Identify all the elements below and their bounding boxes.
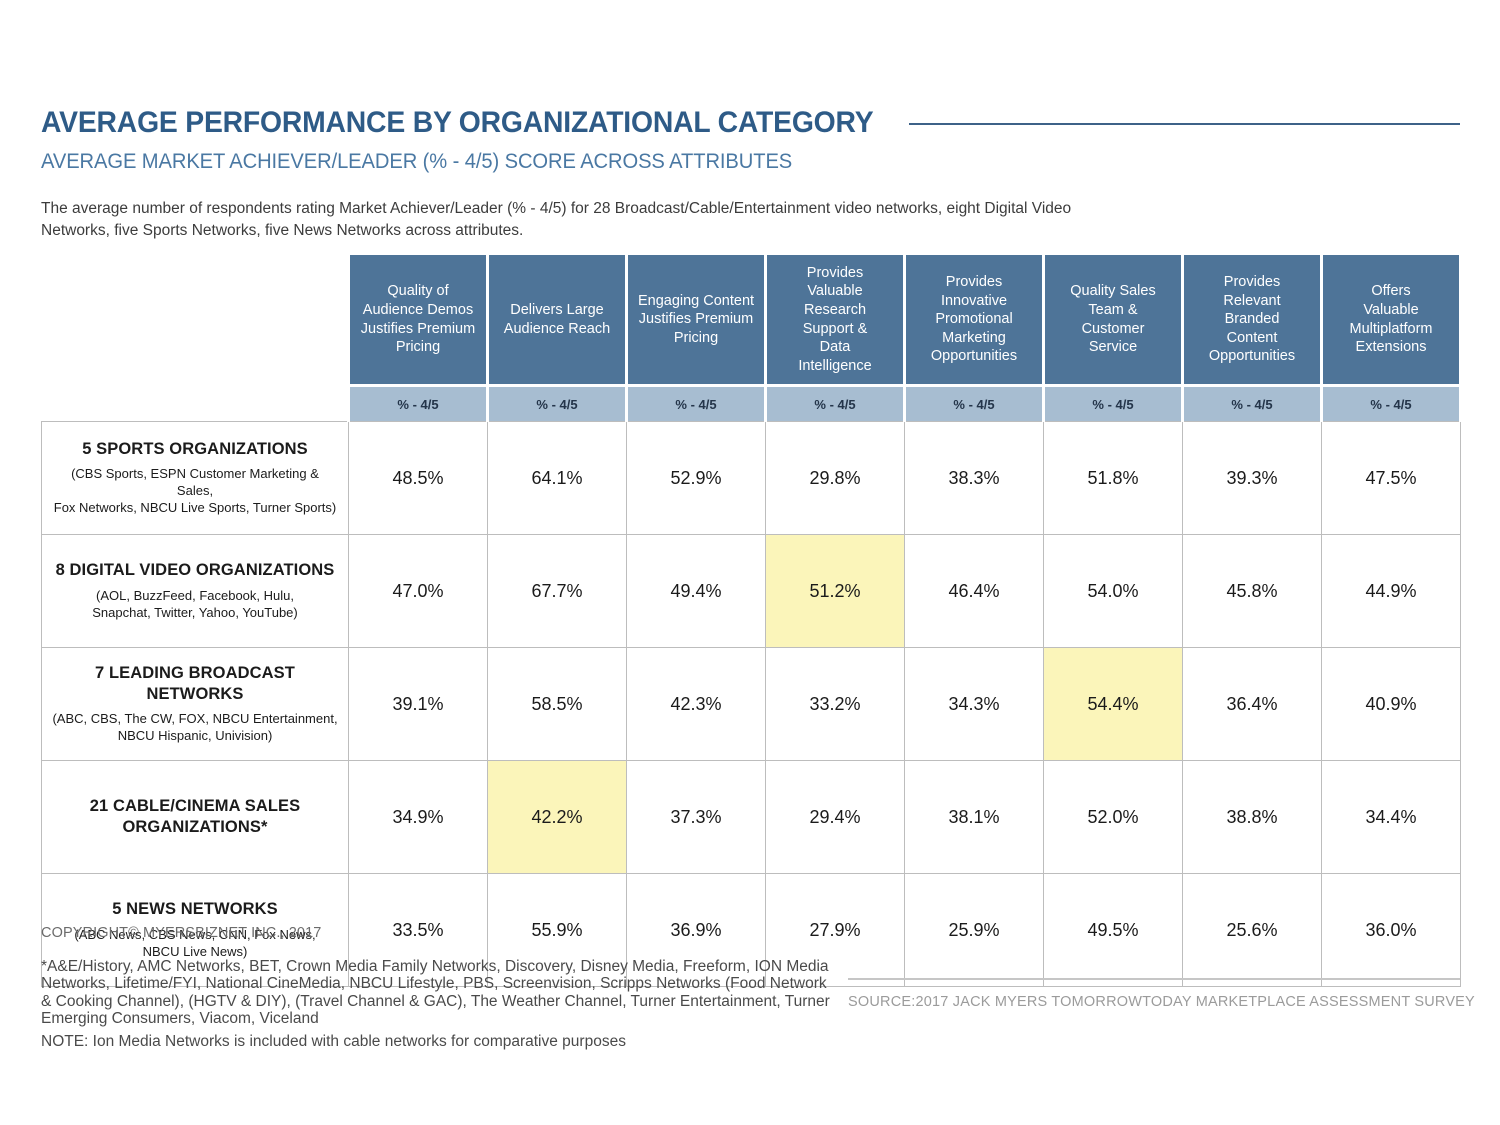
value-cell-r4-c7: 36.0% [1322,874,1461,987]
column-header-4: ProvidesInnovativePromotionalMarketingOp… [905,255,1044,386]
row-label-2: 7 LEADING BROADCAST NETWORKS(ABC, CBS, T… [42,648,349,761]
column-header-5: Quality SalesTeam &CustomerService [1044,255,1183,386]
title-row: AVERAGE PERFORMANCE BY ORGANIZATIONAL CA… [41,108,1460,138]
value-cell-r1-c1: 67.7% [488,535,627,648]
value-cell-r2-c3: 33.2% [766,648,905,761]
value-cell-r1-c3: 51.2% [766,535,905,648]
column-header-1: Delivers LargeAudience Reach [488,255,627,386]
row-title: 21 CABLE/CINEMA SALESORGANIZATIONS* [52,796,338,837]
copyright-text: COPYRIGHT© MYERSBIZNET INC., 2017 [41,925,321,941]
value-cell-r0-c0: 48.5% [349,422,488,535]
corner-blank-cell [42,255,349,386]
value-cell-r2-c4: 34.3% [905,648,1044,761]
value-cell-r2-c6: 36.4% [1183,648,1322,761]
column-header-6: ProvidesRelevantBrandedContentOpportunit… [1183,255,1322,386]
value-cell-r3-c5: 52.0% [1044,761,1183,874]
value-cell-r3-c6: 38.8% [1183,761,1322,874]
slide-page: AVERAGE PERFORMANCE BY ORGANIZATIONAL CA… [0,0,1500,1125]
unit-cell-6: % - 4/5 [1183,386,1322,422]
value-cell-r1-c2: 49.4% [627,535,766,648]
unit-cell-2: % - 4/5 [627,386,766,422]
unit-header-row: % - 4/5% - 4/5% - 4/5% - 4/5% - 4/5% - 4… [42,386,1461,422]
value-cell-r3-c2: 37.3% [627,761,766,874]
page-subtitle: AVERAGE MARKET ACHIEVER/LEADER (% - 4/5)… [41,150,792,174]
table-row: 8 DIGITAL VIDEO ORGANIZATIONS(AOL, BuzzF… [42,535,1461,648]
table-row: 21 CABLE/CINEMA SALESORGANIZATIONS*34.9%… [42,761,1461,874]
value-cell-r4-c4: 25.9% [905,874,1044,987]
unit-cell-5: % - 4/5 [1044,386,1183,422]
row-title: 7 LEADING BROADCAST NETWORKS [52,663,338,704]
row-members: (AOL, BuzzFeed, Facebook, Hulu,Snapchat,… [52,588,338,622]
value-cell-r3-c1: 42.2% [488,761,627,874]
value-cell-r0-c2: 52.9% [627,422,766,535]
value-cell-r1-c4: 46.4% [905,535,1044,648]
source-text: SOURCE:2017 JACK MYERS TOMORROWTODAY MAR… [848,994,1460,1010]
row-title: 5 NEWS NETWORKS [52,899,338,920]
row-title: 8 DIGITAL VIDEO ORGANIZATIONS [52,560,338,581]
row-label-0: 5 SPORTS ORGANIZATIONS(CBS Sports, ESPN … [42,422,349,535]
source-block: SOURCE:2017 JACK MYERS TOMORROWTODAY MAR… [848,978,1460,1010]
intro-paragraph: The average number of respondents rating… [41,198,1141,243]
value-cell-r4-c6: 25.6% [1183,874,1322,987]
unit-cell-3: % - 4/5 [766,386,905,422]
matrix-body: 5 SPORTS ORGANIZATIONS(CBS Sports, ESPN … [42,422,1461,987]
value-cell-r0-c4: 38.3% [905,422,1044,535]
page-title: AVERAGE PERFORMANCE BY ORGANIZATIONAL CA… [41,108,873,138]
attribute-header-row: Quality ofAudience DemosJustifies Premiu… [42,255,1461,386]
matrix-header: Quality ofAudience DemosJustifies Premiu… [42,255,1461,422]
unit-cell-7: % - 4/5 [1322,386,1461,422]
value-cell-r2-c0: 39.1% [349,648,488,761]
value-cell-r1-c5: 54.0% [1044,535,1183,648]
value-cell-r2-c1: 58.5% [488,648,627,761]
value-cell-r3-c7: 34.4% [1322,761,1461,874]
row-label-1: 8 DIGITAL VIDEO ORGANIZATIONS(AOL, BuzzF… [42,535,349,648]
unit-cell-0: % - 4/5 [349,386,488,422]
value-cell-r3-c4: 38.1% [905,761,1044,874]
value-cell-r0-c7: 47.5% [1322,422,1461,535]
column-header-3: ProvidesValuableResearchSupport &DataInt… [766,255,905,386]
table-row: 7 LEADING BROADCAST NETWORKS(ABC, CBS, T… [42,648,1461,761]
title-rule [909,123,1460,125]
footnote-text: *A&E/History, AMC Networks, BET, Crown M… [41,958,831,1027]
value-cell-r1-c6: 45.8% [1183,535,1322,648]
performance-matrix: Quality ofAudience DemosJustifies Premiu… [41,255,1462,987]
value-cell-r4-c5: 49.5% [1044,874,1183,987]
value-cell-r0-c6: 39.3% [1183,422,1322,535]
row-label-3: 21 CABLE/CINEMA SALESORGANIZATIONS* [42,761,349,874]
row-members: (ABC, CBS, The CW, FOX, NBCU Entertainme… [52,711,338,745]
value-cell-r3-c3: 29.4% [766,761,905,874]
unit-cell-1: % - 4/5 [488,386,627,422]
value-cell-r2-c5: 54.4% [1044,648,1183,761]
matrix-table-wrapper: Quality ofAudience DemosJustifies Premiu… [41,255,1460,987]
row-members: (CBS Sports, ESPN Customer Marketing & S… [52,466,338,517]
unit-cell-4: % - 4/5 [905,386,1044,422]
source-rule [848,978,1460,980]
value-cell-r2-c7: 40.9% [1322,648,1461,761]
note-text: NOTE: Ion Media Networks is included wit… [41,1033,841,1052]
value-cell-r0-c1: 64.1% [488,422,627,535]
value-cell-r1-c0: 47.0% [349,535,488,648]
column-header-2: Engaging ContentJustifies PremiumPricing [627,255,766,386]
value-cell-r0-c5: 51.8% [1044,422,1183,535]
value-cell-r0-c3: 29.8% [766,422,905,535]
row-title: 5 SPORTS ORGANIZATIONS [52,439,338,460]
column-header-0: Quality ofAudience DemosJustifies Premiu… [349,255,488,386]
table-row: 5 SPORTS ORGANIZATIONS(CBS Sports, ESPN … [42,422,1461,535]
column-header-7: OffersValuableMultiplatformExtensions [1322,255,1461,386]
value-cell-r1-c7: 44.9% [1322,535,1461,648]
unit-blank-cell [42,386,349,422]
value-cell-r2-c2: 42.3% [627,648,766,761]
value-cell-r3-c0: 34.9% [349,761,488,874]
